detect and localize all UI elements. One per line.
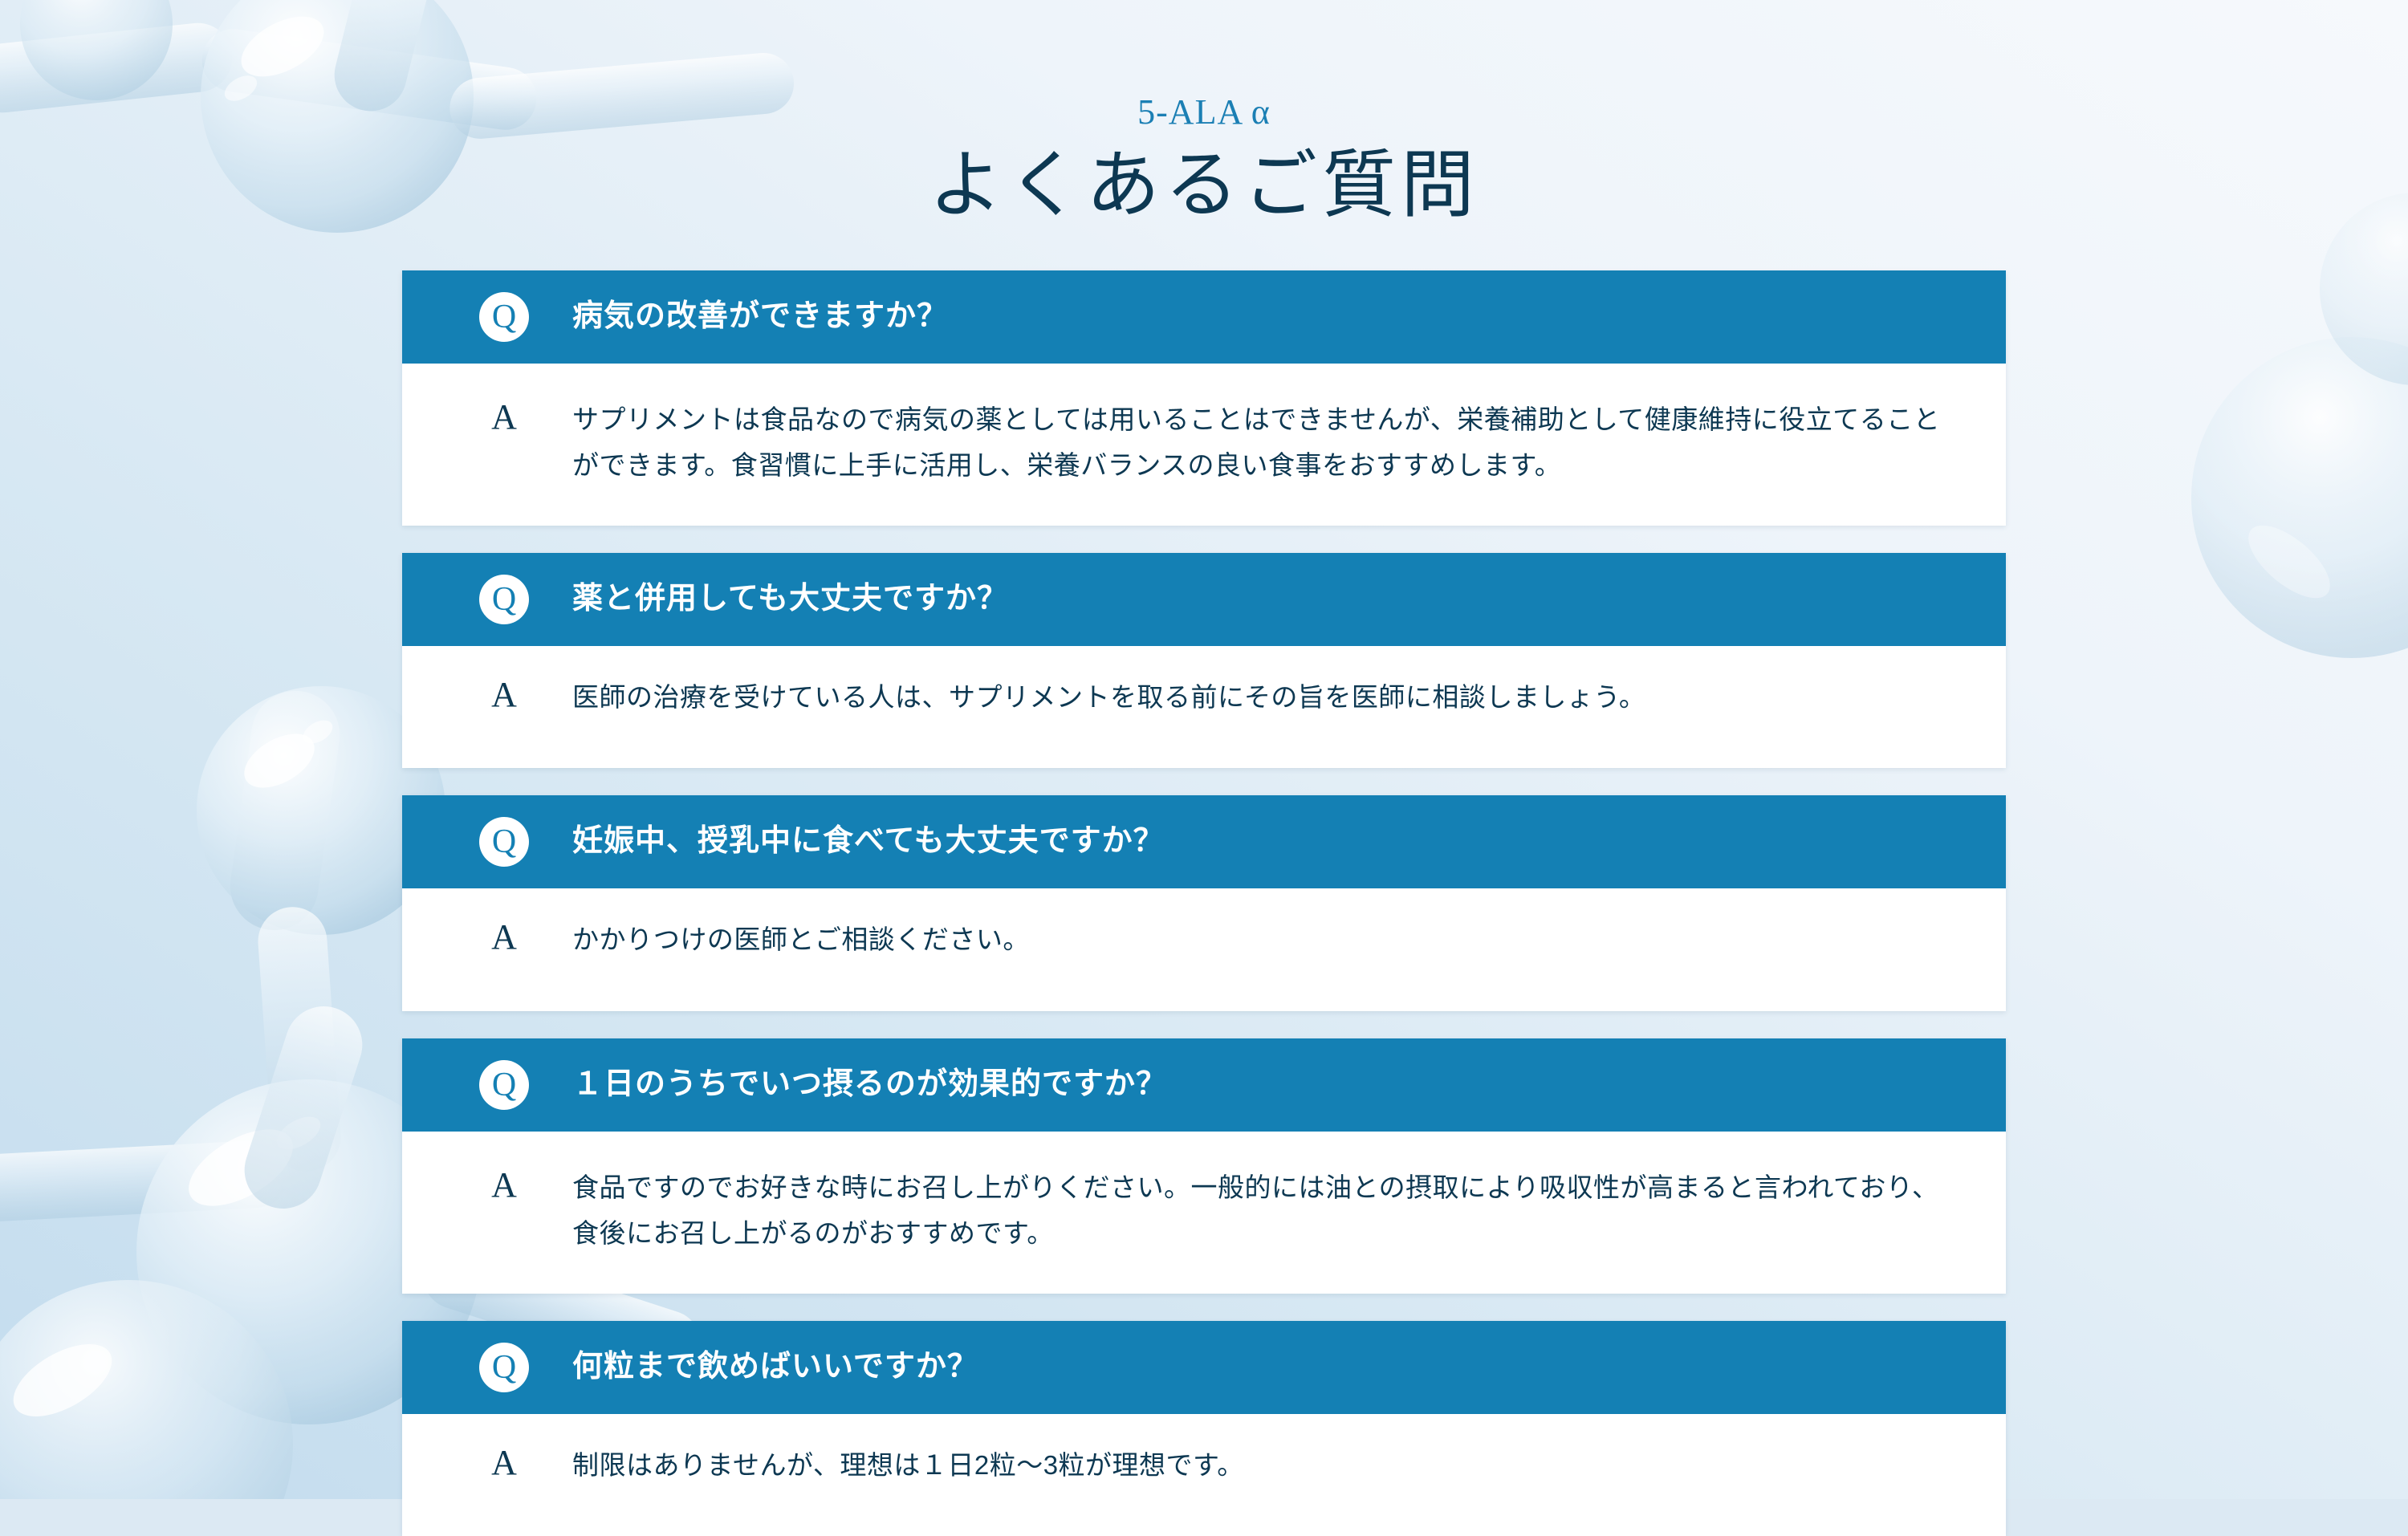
faq-question-row[interactable]: Q 妊娠中、授乳中に食べても大丈夫ですか？ (402, 795, 2006, 888)
faq-answer-text: サプリメントは食品なので病気の薬としては用いることはできませんが、栄養補助として… (572, 397, 1942, 489)
answer-badge-icon: A (479, 1165, 529, 1206)
faq-item[interactable]: Q １日のうちでいつ摂るのが効果的ですか？ A 食品ですのでお好きな時にお召し上… (402, 1038, 2006, 1294)
faq-answer-row: A 医師の治療を受けている人は、サプリメントを取る前にその旨を医師に相談しましょ… (402, 646, 2006, 769)
faq-question-text: 病気の改善ができますか？ (572, 299, 948, 335)
faq-question-text: 何粒まで飲めばいいですか？ (572, 1349, 978, 1386)
faq-question-text: 妊娠中、授乳中に食べても大丈夫ですか？ (572, 823, 1165, 860)
page-title: よくあるご質問 (0, 140, 2408, 232)
faq-question-row[interactable]: Q 病気の改善ができますか？ (402, 270, 2006, 364)
faq-item[interactable]: Q 薬と併用しても大丈夫ですか？ A 医師の治療を受けている人は、サプリメントを… (402, 553, 2006, 769)
answer-badge-icon: A (479, 917, 529, 958)
faq-answer-text: 医師の治療を受けている人は、サプリメントを取る前にその旨を医師に相談しましょう。 (572, 675, 1942, 721)
faq-item[interactable]: Q 病気の改善ができますか？ A サプリメントは食品なので病気の薬としては用いる… (402, 270, 2006, 526)
answer-badge-icon: A (479, 1443, 529, 1484)
faq-question-row[interactable]: Q 何粒まで飲めばいいですか？ (402, 1321, 2006, 1414)
question-badge-icon: Q (479, 1343, 529, 1392)
faq-question-text: １日のうちでいつ摂るのが効果的ですか？ (572, 1067, 1167, 1103)
faq-answer-row: A かかりつけの医師とご相談ください。 (402, 888, 2006, 1011)
question-badge-icon: Q (479, 817, 529, 867)
question-badge-icon: Q (479, 575, 529, 624)
brand-eyebrow: 5-ALA α (0, 95, 2408, 130)
faq-answer-text: かかりつけの医師とご相談ください。 (572, 917, 1942, 963)
faq-question-text: 薬と併用しても大丈夫ですか？ (572, 581, 1008, 618)
faq-list: Q 病気の改善ができますか？ A サプリメントは食品なので病気の薬としては用いる… (402, 270, 2006, 1536)
faq-item[interactable]: Q 何粒まで飲めばいいですか？ A 制限はありませんが、理想は１日2粒～3粒が理… (402, 1321, 2006, 1536)
faq-item[interactable]: Q 妊娠中、授乳中に食べても大丈夫ですか？ A かかりつけの医師とご相談ください… (402, 795, 2006, 1011)
faq-answer-text: 食品ですのでお好きな時にお召し上がりください。一般的には油との摂取により吸収性が… (572, 1165, 1942, 1257)
answer-badge-icon: A (479, 675, 529, 716)
faq-page: 5-ALA α よくあるご質問 Q 病気の改善ができますか？ A サプリメントは… (0, 0, 2408, 1499)
question-badge-icon: Q (479, 1060, 529, 1110)
faq-answer-row: A 制限はありませんが、理想は１日2粒～3粒が理想です。 (402, 1414, 2006, 1536)
faq-question-row[interactable]: Q 薬と併用しても大丈夫ですか？ (402, 553, 2006, 646)
page-header: 5-ALA α よくあるご質問 (0, 0, 2408, 232)
question-badge-icon: Q (479, 292, 529, 342)
answer-badge-icon: A (479, 397, 529, 438)
faq-answer-row: A サプリメントは食品なので病気の薬としては用いることはできませんが、栄養補助と… (402, 364, 2006, 526)
faq-answer-row: A 食品ですのでお好きな時にお召し上がりください。一般的には油との摂取により吸収… (402, 1132, 2006, 1294)
faq-question-row[interactable]: Q １日のうちでいつ摂るのが効果的ですか？ (402, 1038, 2006, 1132)
faq-answer-text: 制限はありませんが、理想は１日2粒～3粒が理想です。 (572, 1443, 1942, 1489)
